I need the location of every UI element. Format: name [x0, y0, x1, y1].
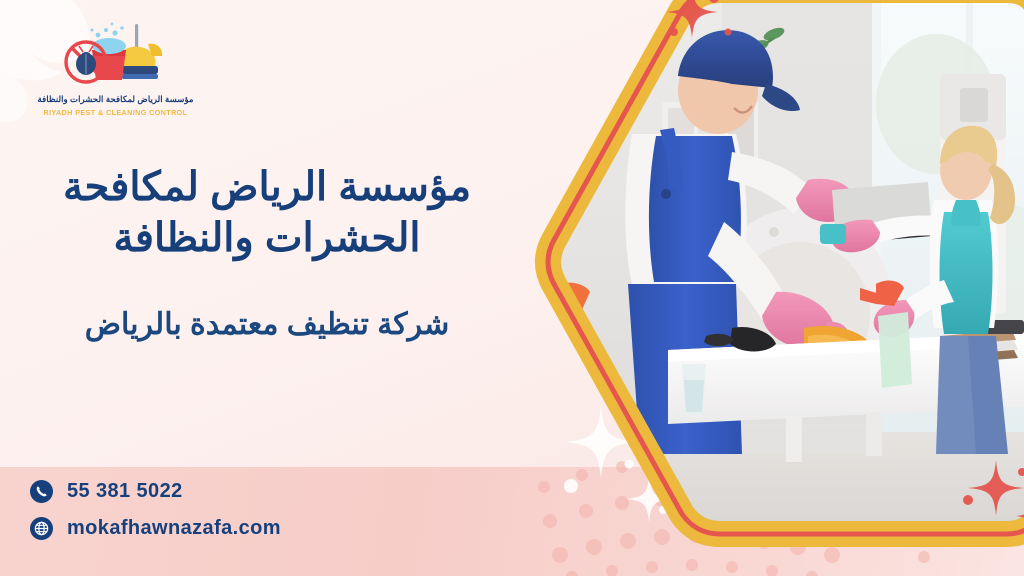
website-url: mokafhawnazafa.com — [67, 517, 281, 540]
contact-website[interactable]: mokafhawnazafa.com — [30, 517, 281, 540]
cleaning-staff-photo — [536, 0, 1024, 544]
photo-frame — [536, 0, 1024, 540]
contact-info: 55 381 5022 mokafhawnazafa.com — [30, 480, 281, 554]
pest-control-cleaning-icon — [62, 22, 170, 92]
phone-icon — [30, 480, 53, 503]
company-logo[interactable]: مؤسسة الرياض لمكافحة الحشرات والنظافة RI… — [8, 22, 223, 117]
globe-icon — [30, 517, 53, 540]
logo-english-text: RIYADH PEST & CLEANING CONTROL — [8, 108, 223, 117]
promo-banner: مؤسسة الرياض لمكافحة الحشرات والنظافة RI… — [0, 0, 1024, 576]
page-title: مؤسسة الرياض لمكافحة الحشرات والنظافة — [32, 162, 502, 264]
phone-number: 55 381 5022 — [67, 480, 183, 503]
logo-arabic-text: مؤسسة الرياض لمكافحة الحشرات والنظافة — [8, 94, 223, 105]
contact-phone[interactable]: 55 381 5022 — [30, 480, 281, 503]
page-subtitle: شركة تنظيف معتمدة بالرياض — [32, 305, 502, 345]
